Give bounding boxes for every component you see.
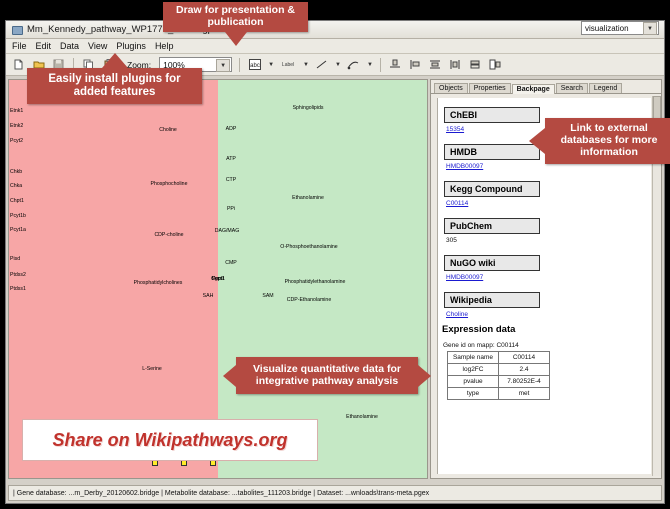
- callout-link-databases: Link to external databases for more info…: [545, 118, 670, 164]
- menu-item-data[interactable]: Data: [60, 41, 79, 51]
- tab-objects[interactable]: Objects: [434, 83, 468, 93]
- menu-item-plugins[interactable]: Plugins: [116, 41, 146, 51]
- menu-item-file[interactable]: File: [12, 41, 27, 51]
- arc-icon[interactable]: [346, 57, 361, 72]
- toolbar-separator: [239, 58, 240, 72]
- table-cell-value: met: [499, 388, 550, 400]
- section-header-pubchem: PubChem: [444, 218, 540, 234]
- table-cell-label: pvalue: [448, 376, 499, 388]
- section-header-kegg-compound: Kegg Compound: [444, 181, 540, 197]
- window-titlebar: Mm_Kennedy_pathway_WP1771_45176.gpml: [6, 21, 664, 39]
- table-row: log2FC 2.4: [448, 364, 550, 376]
- stack-icon[interactable]: [468, 57, 483, 72]
- align-bottom-icon[interactable]: [388, 57, 403, 72]
- table-row: type met: [448, 388, 550, 400]
- menu-item-help[interactable]: Help: [155, 41, 174, 51]
- order-icon[interactable]: [488, 57, 503, 72]
- expression-data-title: Expression data: [442, 324, 651, 335]
- app-logo-icon: [11, 24, 22, 35]
- link-wikipedia[interactable]: Choline: [446, 311, 651, 318]
- side-panel-tabs: Objects Properties Backpage Search Legen…: [431, 80, 661, 94]
- menu-item-edit[interactable]: Edit: [36, 41, 52, 51]
- chevron-down-icon[interactable]: ▼: [268, 62, 274, 68]
- table-cell-label: log2FC: [448, 364, 499, 376]
- table-cell-label: Sample name: [448, 352, 499, 364]
- status-text: | Gene database: ...m_Derby_20120602.bri…: [9, 490, 429, 497]
- line-icon[interactable]: [314, 57, 329, 72]
- table-row: pvalue 7.80252E-4: [448, 376, 550, 388]
- distribute-vertical-icon[interactable]: [428, 57, 443, 72]
- link-nugo-wiki[interactable]: HMDB00097: [446, 274, 651, 281]
- table-cell-label: type: [448, 388, 499, 400]
- section-header-chebi: ChEBI: [444, 107, 540, 123]
- expression-table: Sample name C00114 log2FC 2.4 pvalue 7.8…: [447, 351, 550, 400]
- section-header-nugo-wiki: NuGO wiki: [444, 255, 540, 271]
- link-kegg-compound[interactable]: C00114: [446, 200, 651, 207]
- callout-visualize: Visualize quantitative data for integrat…: [236, 357, 418, 394]
- distribute-horizontal-icon[interactable]: [448, 57, 463, 72]
- callout-draw: Draw for presentation & publication: [163, 2, 308, 32]
- label-icon[interactable]: Label: [279, 57, 297, 72]
- gene-id-line: Gene id on mapp: C00114: [443, 342, 651, 349]
- new-file-icon[interactable]: [11, 57, 26, 72]
- chevron-down-icon[interactable]: ▼: [367, 62, 373, 68]
- visualization-value: visualization: [585, 24, 629, 33]
- share-banner-text: Share on Wikipathways.org: [53, 430, 288, 451]
- chevron-down-icon[interactable]: ▼: [216, 59, 230, 72]
- gene-ptdss1[interactable]: Ptdss1: [9, 276, 65, 290]
- tab-backpage[interactable]: Backpage: [512, 84, 555, 94]
- callout-plugins: Easily install plugins for added feature…: [27, 68, 202, 104]
- menubar: File Edit Data View Plugins Help: [6, 39, 664, 54]
- table-row: Sample name C00114: [448, 352, 550, 364]
- screenshot-root: Mm_Kennedy_pathway_WP1771_45176.gpml Fil…: [0, 0, 670, 509]
- chevron-down-icon[interactable]: ▼: [335, 62, 341, 68]
- tab-legend[interactable]: Legend: [589, 83, 622, 93]
- table-cell-value: C00114: [499, 352, 550, 364]
- menu-item-view[interactable]: View: [88, 41, 107, 51]
- link-hmdb[interactable]: HMDB00097: [446, 163, 651, 170]
- text-format-icon[interactable]: abc: [247, 57, 262, 72]
- value-pubchem: 305: [446, 237, 651, 244]
- table-cell-value: 7.80252E-4: [499, 376, 550, 388]
- share-banner: Share on Wikipathways.org: [22, 419, 318, 461]
- table-cell-value: 2.4: [499, 364, 550, 376]
- toolbar-separator: [380, 58, 381, 72]
- section-header-hmdb: HMDB: [444, 144, 540, 160]
- visualization-select[interactable]: visualization ▼: [581, 21, 659, 35]
- svg-text:abc: abc: [250, 63, 260, 69]
- chevron-down-icon[interactable]: ▼: [303, 62, 309, 68]
- align-left-icon[interactable]: [408, 57, 423, 72]
- status-bar: | Gene database: ...m_Derby_20120602.bri…: [8, 485, 662, 501]
- section-header-wikipedia: Wikipedia: [444, 292, 540, 308]
- tab-search[interactable]: Search: [556, 83, 588, 93]
- tab-properties[interactable]: Properties: [469, 83, 511, 93]
- chevron-down-icon[interactable]: ▼: [643, 22, 657, 35]
